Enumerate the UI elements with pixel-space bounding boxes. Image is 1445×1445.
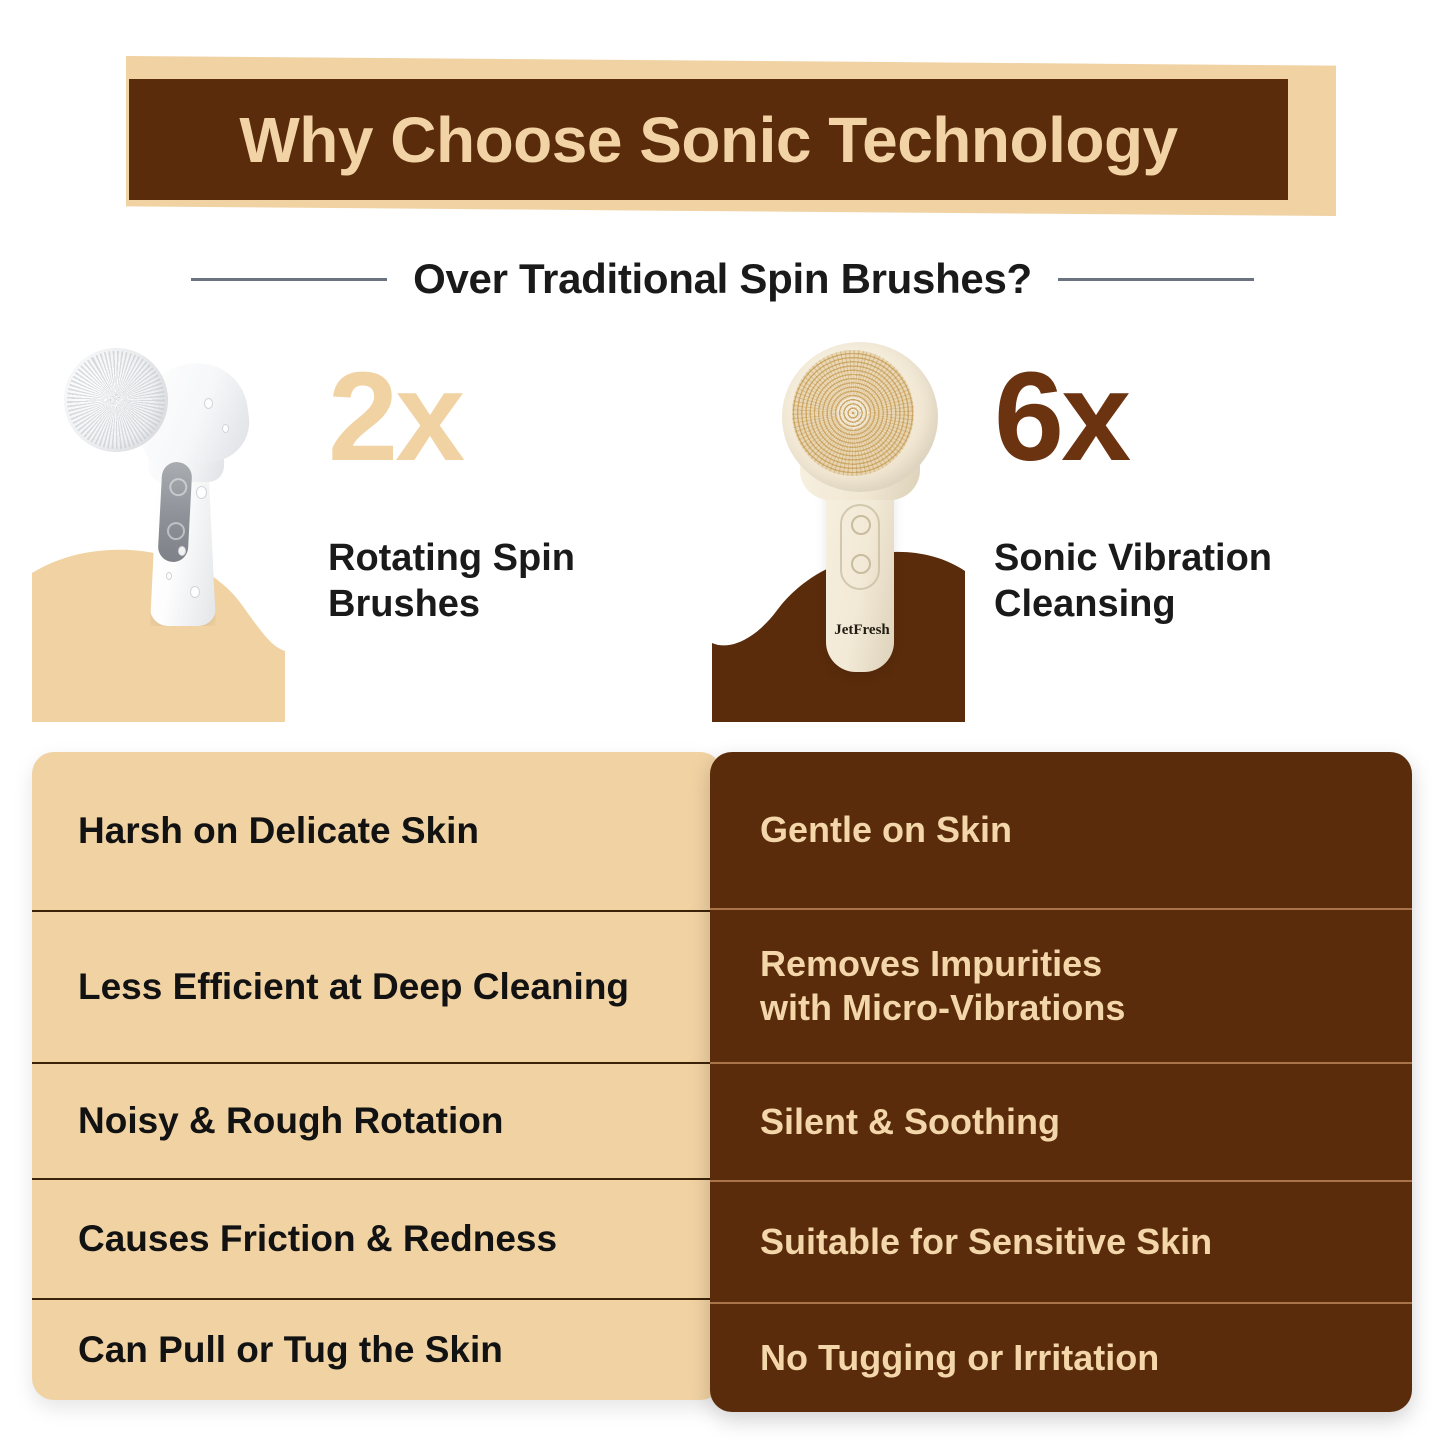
table-row-label: Can Pull or Tug the Skin bbox=[78, 1327, 503, 1372]
right-multiplier: 6x bbox=[994, 354, 1344, 480]
table-row-label: Less Efficient at Deep Cleaning bbox=[78, 964, 629, 1009]
table-row: Noisy & Rough Rotation bbox=[32, 1064, 722, 1180]
banner-plate: Why Choose Sonic Technology bbox=[129, 79, 1288, 200]
table-row: Less Efficient at Deep Cleaning bbox=[32, 912, 722, 1064]
subtitle-row: Over Traditional Spin Brushes? bbox=[0, 248, 1445, 310]
page-title: Why Choose Sonic Technology bbox=[129, 79, 1288, 200]
header-banner: Why Choose Sonic Technology bbox=[0, 0, 1445, 235]
left-caption-line2: Brushes bbox=[328, 582, 658, 628]
power-icon bbox=[851, 515, 871, 535]
table-row-label: Causes Friction & Redness bbox=[78, 1216, 557, 1261]
right-stat: 6x Sonic Vibration Cleansing bbox=[994, 354, 1344, 627]
water-droplet bbox=[196, 486, 207, 499]
infographic-page: Why Choose Sonic Technology Over Traditi… bbox=[0, 0, 1445, 1445]
table-row-label: Harsh on Delicate Skin bbox=[78, 808, 479, 853]
table-row: Suitable for Sensitive Skin bbox=[710, 1182, 1412, 1304]
left-caption-line1: Rotating Spin bbox=[328, 536, 658, 582]
left-multiplier: 2x bbox=[328, 354, 658, 480]
water-droplet bbox=[166, 572, 172, 580]
table-row: Causes Friction & Redness bbox=[32, 1180, 722, 1300]
table-row-label: No Tugging or Irritation bbox=[760, 1336, 1159, 1380]
sonic-brush-image: JetFresh bbox=[740, 336, 980, 671]
comparison-table: Harsh on Delicate SkinLess Efficient at … bbox=[0, 752, 1445, 1412]
hero-right-sonic-brush: JetFresh 6x Sonic Vibration Cleansing bbox=[712, 330, 1352, 730]
table-row-label: Gentle on Skin bbox=[760, 808, 1012, 852]
water-droplet bbox=[204, 398, 213, 409]
comparison-column-sonic: Gentle on SkinRemoves Impuritieswith Mic… bbox=[710, 752, 1412, 1412]
right-caption-line1: Sonic Vibration bbox=[994, 536, 1344, 582]
table-row: No Tugging or Irritation bbox=[710, 1304, 1412, 1412]
water-droplet bbox=[190, 586, 200, 598]
page-subtitle: Over Traditional Spin Brushes? bbox=[413, 255, 1032, 303]
spin-brush-switch bbox=[157, 461, 192, 562]
rule-right bbox=[1058, 278, 1254, 281]
brand-logo-text: JetFresh bbox=[816, 622, 908, 639]
sonic-brush-control-panel bbox=[840, 504, 880, 590]
hero-left-spin-brush: 2x Rotating Spin Brushes bbox=[32, 330, 672, 730]
table-row: Gentle on Skin bbox=[710, 752, 1412, 910]
table-row-label: Noisy & Rough Rotation bbox=[78, 1098, 503, 1143]
left-stat: 2x Rotating Spin Brushes bbox=[328, 354, 658, 627]
table-row-label: Removes Impuritieswith Micro-Vibrations bbox=[760, 942, 1125, 1030]
left-caption: Rotating Spin Brushes bbox=[328, 536, 658, 627]
mode-icon bbox=[851, 554, 871, 574]
water-droplet bbox=[178, 546, 186, 556]
table-row: Can Pull or Tug the Skin bbox=[32, 1300, 722, 1400]
table-row-label: Suitable for Sensitive Skin bbox=[760, 1220, 1212, 1264]
right-caption: Sonic Vibration Cleansing bbox=[994, 536, 1344, 627]
hero-compare-row: 2x Rotating Spin Brushes JetFresh bbox=[0, 330, 1445, 730]
comparison-column-traditional: Harsh on Delicate SkinLess Efficient at … bbox=[32, 752, 722, 1400]
water-droplet bbox=[222, 424, 229, 433]
table-row: Removes Impuritieswith Micro-Vibrations bbox=[710, 910, 1412, 1064]
table-row-label: Silent & Soothing bbox=[760, 1100, 1060, 1144]
table-row: Harsh on Delicate Skin bbox=[32, 752, 722, 912]
right-caption-line2: Cleansing bbox=[994, 582, 1344, 628]
sonic-brush-silicone-bristles bbox=[792, 350, 914, 476]
rule-left bbox=[191, 278, 387, 281]
spin-brush-image bbox=[54, 340, 294, 670]
table-row: Silent & Soothing bbox=[710, 1064, 1412, 1182]
